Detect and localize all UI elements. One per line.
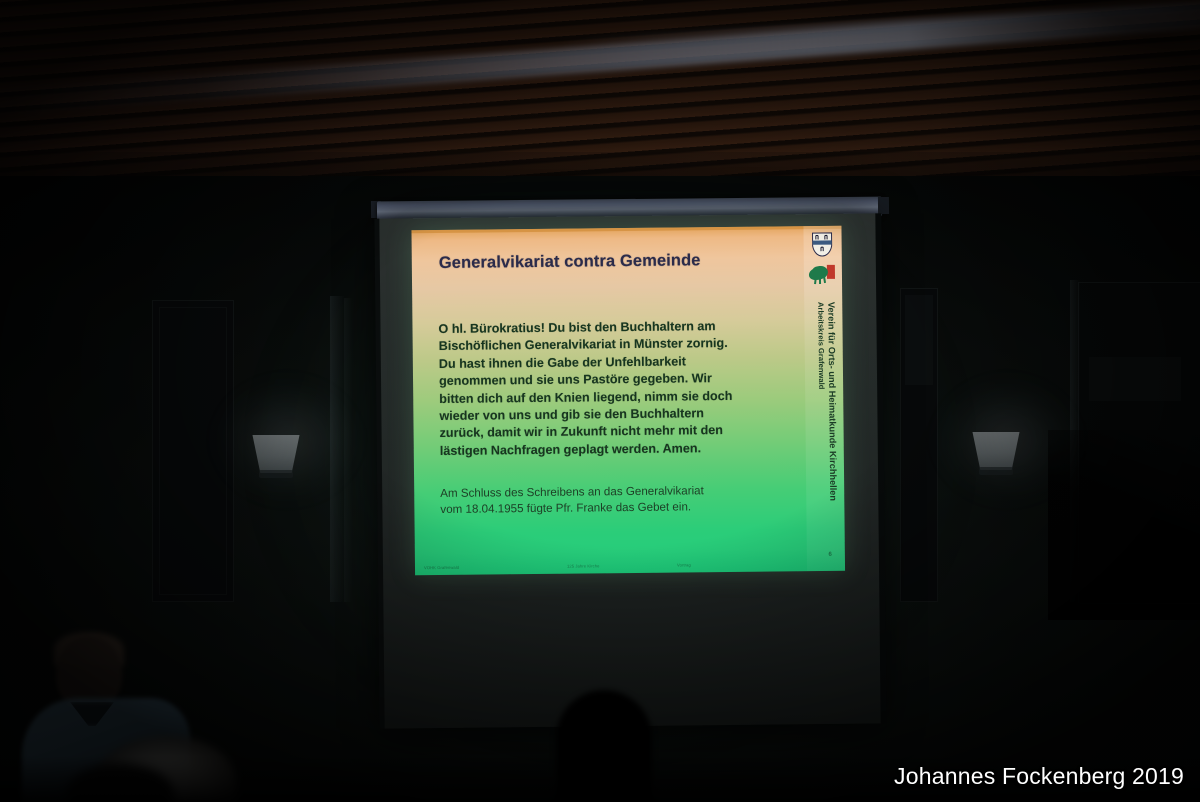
- slide-title: Generalvikariat contra Gemeinde: [439, 251, 701, 273]
- door-right-near-glass: [905, 295, 933, 385]
- wall-sconce-left-base: [259, 470, 293, 478]
- projection-screen: Generalvikariat contra Gemeinde O hl. Bü…: [378, 213, 881, 728]
- photograph: Generalvikariat contra Gemeinde O hl. Bü…: [0, 0, 1200, 802]
- wall-sconce-right-base: [979, 467, 1013, 475]
- slide-footer-right: Vortrag: [677, 562, 691, 567]
- slide-source-note: Am Schluss des Schreibens an das General…: [440, 482, 800, 518]
- projected-slide: Generalvikariat contra Gemeinde O hl. Bü…: [411, 226, 845, 575]
- slide-footer-center: 125 Jahre Kirche: [567, 563, 600, 568]
- slide-sidebar-vertical-text: Verein für Orts- und Heimatkunde Kirchhe…: [806, 300, 843, 550]
- screen-roller-cap-right: [878, 197, 889, 214]
- stair-railing-silhouette: [1048, 430, 1200, 620]
- slide-footer-left: VOHK Grafenwald: [424, 565, 459, 570]
- door-right-far-glass: [1089, 357, 1181, 401]
- sidebar-association-name: Verein für Orts- und Heimatkunde Kirchhe…: [826, 302, 838, 501]
- slide-note-line: vom 18.04.1955 fügte Pfr. Franke das Geb…: [440, 498, 800, 518]
- coat-of-arms-icon: [812, 232, 833, 257]
- photographer-watermark: Johannes Fockenberg 2019: [894, 763, 1184, 790]
- slide-bottom-band: [415, 549, 845, 576]
- slide-body-line: lästigen Nachfragen geplagt werden. Amen…: [440, 439, 800, 460]
- slide-page-number: 6: [829, 552, 832, 558]
- slide-branding-column: Verein für Orts- und Heimatkunde Kirchhe…: [803, 226, 845, 571]
- tree-logo-icon: [808, 264, 836, 286]
- slide-body-text: O hl. Bürokratius! Du bist den Buchhalte…: [438, 317, 799, 460]
